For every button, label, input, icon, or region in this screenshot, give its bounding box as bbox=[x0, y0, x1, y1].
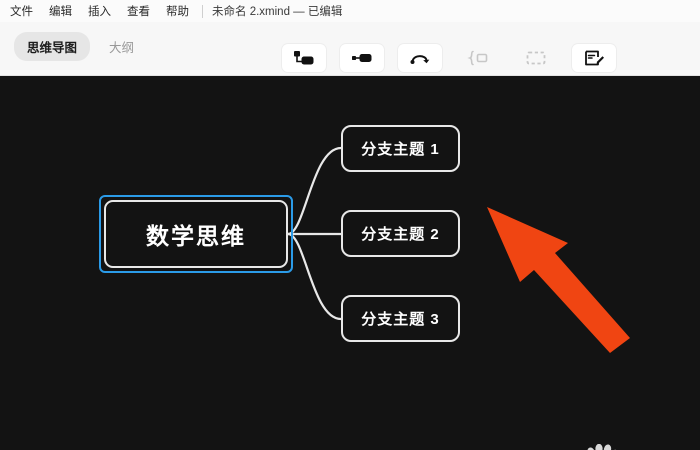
tool-relationship-button[interactable] bbox=[398, 44, 442, 72]
tool-topic-button[interactable] bbox=[282, 44, 326, 72]
branch-topic-node-2[interactable]: 分支主题 2 bbox=[341, 210, 460, 257]
mindmap-canvas[interactable]: 数学思维 分支主题 1 分支主题 2 分支主题 3 Bai du 经验 bbox=[0, 76, 700, 450]
menu-view[interactable]: 查看 bbox=[127, 3, 150, 19]
paw-print-icon bbox=[585, 444, 619, 450]
tool-boundary-button[interactable] bbox=[514, 44, 558, 72]
menu-help[interactable]: 帮助 bbox=[166, 3, 189, 19]
branch-topic-node-3[interactable]: 分支主题 3 bbox=[341, 295, 460, 342]
boundary-icon bbox=[525, 50, 547, 66]
summary-icon bbox=[467, 50, 489, 66]
menu-bar: 文件 编辑 插入 查看 帮助 未命名 2.xmind — 已编辑 bbox=[0, 0, 700, 22]
tab-mindmap[interactable]: 思维导图 bbox=[14, 32, 90, 61]
notes-icon bbox=[583, 50, 605, 66]
tab-outline[interactable]: 大纲 bbox=[96, 32, 147, 61]
branch-topic-node-1[interactable]: 分支主题 1 bbox=[341, 125, 460, 172]
view-mode-tabs: 思维导图 大纲 bbox=[14, 32, 147, 61]
topic-icon bbox=[293, 50, 315, 66]
orange-arrow-annotation bbox=[470, 190, 640, 355]
menu-title-divider bbox=[202, 5, 203, 18]
menu-file[interactable]: 文件 bbox=[10, 3, 33, 19]
subtopic-icon bbox=[351, 50, 373, 66]
tool-subtopic-button[interactable] bbox=[340, 44, 384, 72]
tool-summary-button[interactable] bbox=[456, 44, 500, 72]
tool-notes-button[interactable] bbox=[572, 44, 616, 72]
menu-edit[interactable]: 编辑 bbox=[49, 3, 72, 19]
xmind-window: 文件 编辑 插入 查看 帮助 未命名 2.xmind — 已编辑 思维导图 大纲 bbox=[0, 0, 700, 450]
relationship-icon bbox=[409, 50, 431, 66]
document-title: 未命名 2.xmind — 已编辑 bbox=[212, 3, 342, 19]
menu-insert[interactable]: 插入 bbox=[88, 3, 111, 19]
central-topic-node[interactable]: 数学思维 bbox=[104, 200, 288, 268]
toolbar: 思维导图 大纲 主题 bbox=[0, 22, 700, 76]
